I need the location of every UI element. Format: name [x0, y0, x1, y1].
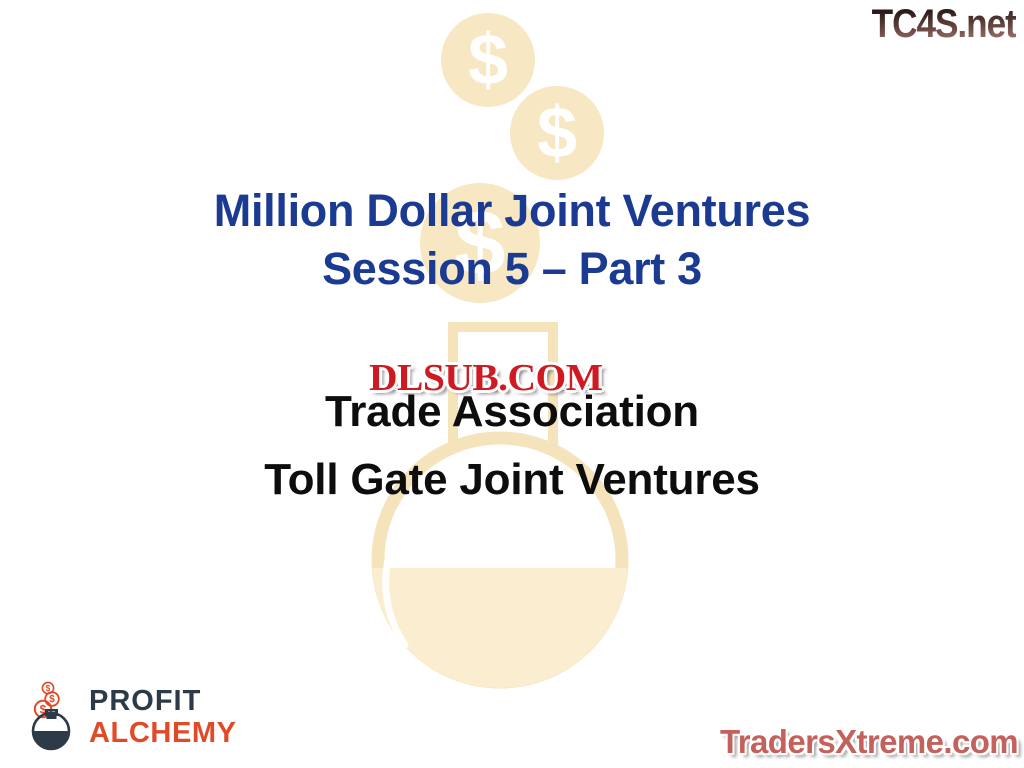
profit-alchemy-logo: $ $ $ PROFIT ALCHEMY [26, 678, 237, 754]
logo-coin-medium-icon: $ [45, 692, 59, 706]
title-line-2: Session 5 – Part 3 [0, 240, 1024, 298]
dollar-coin-icon: $ [441, 13, 535, 107]
svg-text:$: $ [537, 93, 577, 173]
watermark-dlsub: DLSUB.COM [369, 358, 603, 398]
profit-alchemy-wordmark: PROFIT ALCHEMY [89, 687, 237, 754]
dollar-coin-icon: $ [510, 86, 604, 180]
presentation-slide: $ $ $ Million Dollar Joint Ventures Sess… [0, 0, 1024, 768]
watermark-tc4s: TC4S.net [872, 2, 1016, 46]
logo-word-profit: PROFIT [89, 687, 237, 716]
flask-logo-icon: $ $ $ [26, 678, 80, 754]
body-line-2: Toll Gate Joint Ventures [0, 446, 1024, 514]
logo-word-alchemy: ALCHEMY [89, 719, 237, 748]
slide-title: Million Dollar Joint Ventures Session 5 … [0, 182, 1024, 298]
title-line-1: Million Dollar Joint Ventures [0, 182, 1024, 240]
svg-text:$: $ [468, 20, 508, 100]
watermark-tradersxtreme: TradersXtreme.com [720, 724, 1018, 760]
